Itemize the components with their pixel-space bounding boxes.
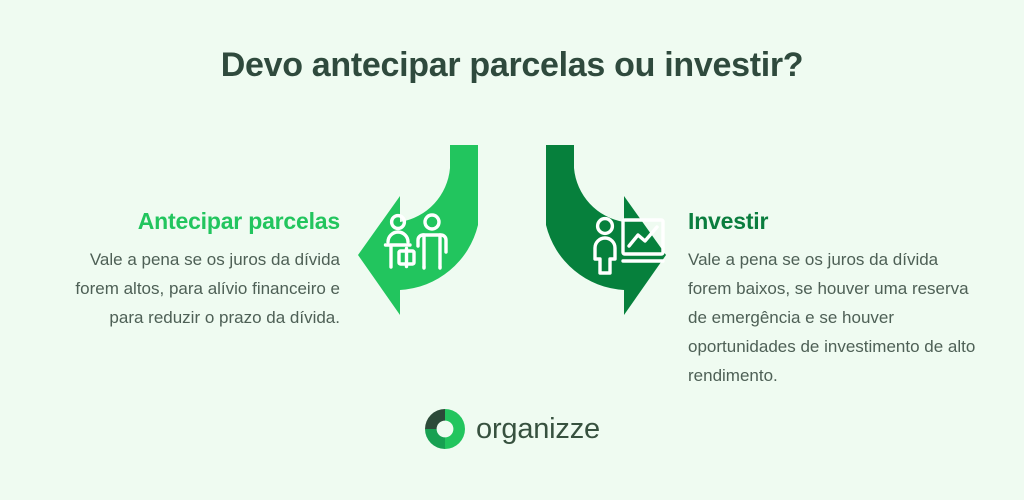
page-title: Devo antecipar parcelas ou investir? — [0, 44, 1024, 86]
arrows-svg — [340, 130, 684, 315]
option-description-investir: Vale a pena se os juros da dívida forem … — [688, 245, 976, 390]
option-heading-antecipar: Antecipar parcelas — [62, 206, 340, 236]
organizze-wordmark: organizze — [476, 412, 600, 446]
arrows-graphic — [340, 130, 684, 315]
infographic-canvas: Devo antecipar parcelas ou investir? Ant… — [0, 0, 1024, 500]
organizze-logo: organizze — [0, 408, 1024, 450]
arrow-left-shape — [358, 145, 478, 315]
arrow-right-shape — [546, 145, 666, 315]
option-column-investir: Investir Vale a pena se os juros da dívi… — [688, 206, 976, 390]
option-heading-investir: Investir — [688, 206, 976, 236]
option-description-antecipar: Vale a pena se os juros da dívida forem … — [62, 245, 340, 332]
curved-arrow-right — [546, 145, 666, 315]
option-column-antecipar: Antecipar parcelas Vale a pena se os jur… — [62, 206, 340, 332]
curved-arrow-left — [358, 145, 478, 315]
organizze-ring-logo — [424, 408, 466, 450]
